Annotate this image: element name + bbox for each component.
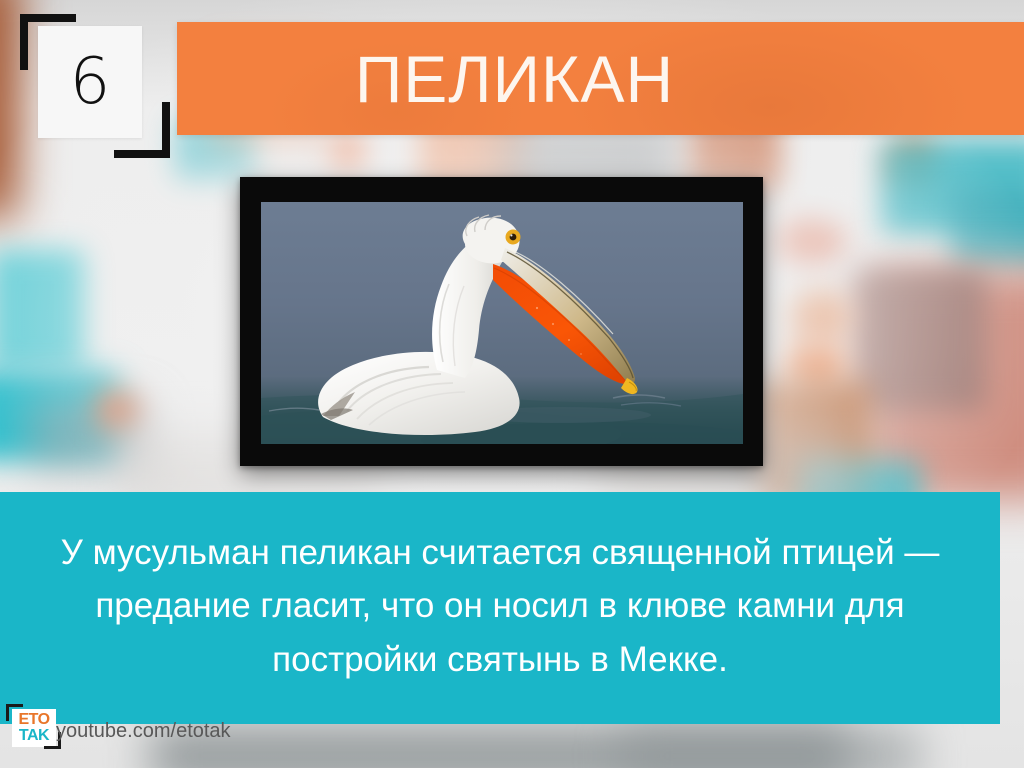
footer-branding: ETO TAK youtube.com/etotak bbox=[0, 700, 280, 760]
title-bar: ПЕЛИКАН bbox=[177, 22, 1024, 135]
page-title: ПЕЛИКАН bbox=[355, 41, 674, 117]
badge-number-text: 6 bbox=[70, 50, 111, 114]
caption-text: У мусульман пеликан считается священной … bbox=[33, 526, 968, 686]
photo-frame bbox=[240, 177, 763, 466]
pelican-photo bbox=[261, 202, 743, 444]
youtube-channel-url[interactable]: youtube.com/etotak bbox=[56, 720, 231, 743]
logo-line-eto: ETO bbox=[18, 712, 49, 728]
badge-bracket-bottom-right-icon bbox=[114, 102, 170, 158]
slide-canvas: 6 ПЕЛИКАН bbox=[0, 0, 1024, 768]
caption-band: У мусульман пеликан считается священной … bbox=[0, 492, 1000, 724]
slide-number-badge: 6 bbox=[16, 8, 166, 158]
